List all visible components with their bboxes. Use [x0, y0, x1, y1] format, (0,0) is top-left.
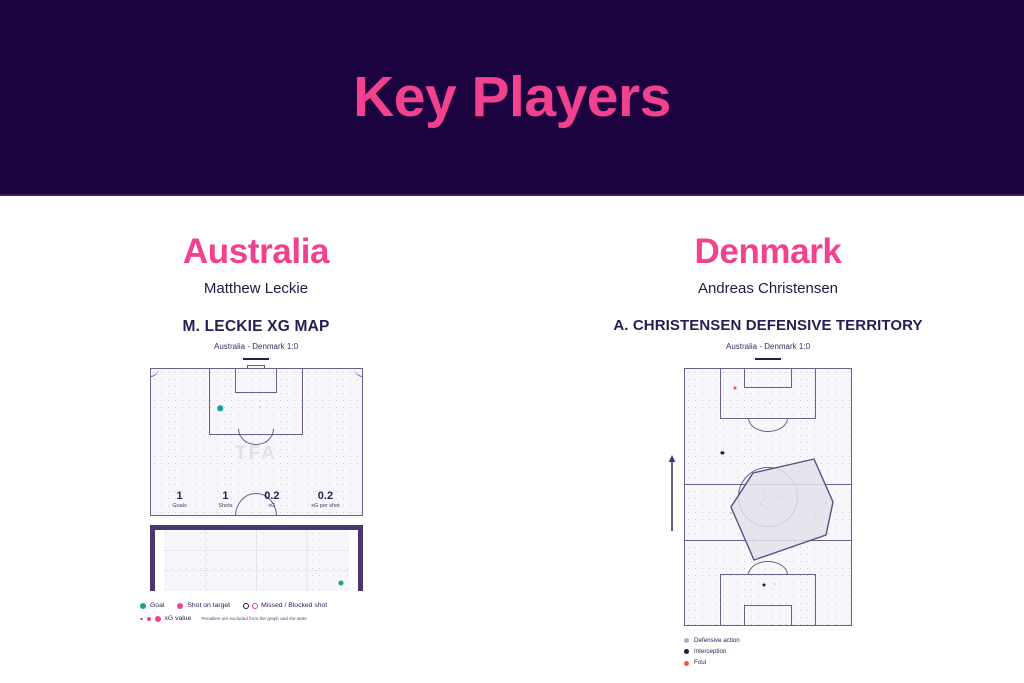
corner-arc-top-right [354, 368, 363, 377]
legend-label-shot-on-target: Shot on target [187, 603, 230, 610]
stat-xg-value: 0.2 [264, 491, 279, 502]
content-area: Australia Matthew Leckie M. LECKIE XG MA… [0, 196, 1024, 683]
legend-label-missed-blocked: Missed / Blocked shot [261, 603, 327, 610]
column-australia: Australia Matthew Leckie M. LECKIE XG MA… [0, 196, 512, 683]
goal-frame-gridline [205, 530, 206, 591]
legend-label-foul: Foul [694, 660, 706, 666]
action-marker-defensive-action [760, 503, 762, 505]
xg-map-subtitle: Australia - Denmark 1:0 [214, 343, 298, 351]
shot-on-target-dot-icon [177, 603, 183, 609]
stat-shots-value: 1 [218, 491, 232, 502]
interception-dot-icon [684, 649, 689, 654]
action-marker-defensive-action [755, 557, 757, 559]
defensive-territory-card: A. CHRISTENSEN DEFENSIVE TERRITORY Austr… [613, 318, 922, 666]
player-name-leckie: Matthew Leckie [204, 281, 308, 296]
stat-xg-per-shot-value: 0.2 [311, 491, 339, 502]
legend-xg-map: Goal Shot on target Missed / Blocked sho… [140, 603, 372, 623]
legend-item-interception: Interception [684, 649, 726, 655]
direction-arrow-icon [667, 455, 677, 533]
shot-marker-goal [217, 406, 223, 412]
stat-xg-per-shot: 0.2 xG per shot [311, 491, 339, 510]
goal-frame-chart [150, 525, 363, 591]
legend-row-xg-scale: xG value Penalties are excluded from the… [140, 616, 372, 623]
legend-label-goal: Goal [150, 603, 164, 610]
goal-dot-icon [140, 603, 146, 609]
action-marker-defensive-action [825, 502, 827, 504]
stat-goals: 1 Goals [172, 491, 186, 510]
stat-xg-per-shot-label: xG per shot [311, 504, 339, 510]
stat-goals-label: Goals [172, 504, 186, 510]
goal-frame-post-shadow-right [349, 530, 358, 591]
stat-shots-label: Shots [218, 504, 232, 510]
watermark-tfa: TFA [235, 443, 277, 465]
legend-row-markers: Goal Shot on target Missed / Blocked sho… [140, 603, 372, 610]
team-name-australia: Australia [183, 234, 329, 269]
defensive-territory-title: A. CHRISTENSEN DEFENSIVE TERRITORY [613, 318, 922, 335]
penalty-arc-bottom-marking [748, 561, 788, 575]
foul-dot-icon [684, 661, 689, 666]
corner-arc-top-left [150, 368, 159, 377]
xg-small-dot-icon [140, 618, 143, 621]
xg-medium-dot-icon [147, 617, 151, 621]
legend-item-missed-blocked: Missed / Blocked shot [243, 603, 327, 610]
xg-large-dot-icon [155, 616, 161, 622]
title-divider [243, 358, 269, 360]
legend-label-interception: Interception [694, 649, 726, 655]
legend-label-xg-value: xG value [165, 616, 192, 623]
action-marker-defensive-action [815, 517, 817, 519]
stat-goals-value: 1 [172, 491, 186, 502]
stat-shots: 1 Shots [218, 491, 232, 510]
action-marker-defensive-action [752, 540, 754, 542]
pitch-diagram-horizontal: TFA 1 Goals 1 Shots 0.2 xG [150, 368, 363, 516]
action-marker-defensive-action [774, 583, 776, 585]
watermark-tfa: TFA [749, 487, 787, 507]
legend-defensive-territory: Defensive action Interception Foul [684, 638, 852, 667]
stat-xg-label: xG [264, 504, 279, 510]
missed-shot-ring-icon [243, 603, 249, 609]
goal-frame-gridline [155, 570, 358, 571]
goal-frame-gridline [307, 530, 308, 591]
legend-item-goal: Goal [140, 603, 164, 610]
legend-item-shot-on-target: Shot on target [177, 603, 230, 610]
xg-value-scale: xG value [140, 616, 191, 623]
team-name-denmark: Denmark [695, 234, 842, 269]
six-yard-box-top-marking [744, 368, 792, 388]
xg-map-title: M. LECKIE XG MAP [182, 318, 329, 335]
goal-frame-shot-goal [339, 580, 344, 585]
title-divider [755, 358, 781, 360]
stats-row: 1 Goals 1 Shots 0.2 xG 0.2 xG per shot [151, 491, 362, 510]
action-marker-defensive-action [730, 512, 732, 514]
goal-frame-gridline [155, 550, 358, 551]
action-marker-interception [721, 451, 724, 454]
legend-label-defensive-action: Defensive action [694, 638, 740, 644]
goal-frame-post-shadow-left [155, 530, 164, 591]
goal-frame-gridline [256, 530, 257, 591]
blocked-shot-ring-icon [252, 603, 258, 609]
action-marker-interception [762, 583, 765, 586]
legend-item-defensive-action: Defensive action [684, 638, 740, 644]
player-name-christensen: Andreas Christensen [698, 281, 838, 296]
defensive-action-dot-icon [684, 638, 689, 643]
action-marker-foul [733, 386, 736, 389]
penalty-arc-top-marking [748, 418, 788, 432]
stat-xg: 0.2 xG [264, 491, 279, 510]
legend-footnote: Penalties are excluded from the graph an… [201, 617, 306, 622]
six-yard-box-bottom-marking [744, 605, 792, 625]
pitch-diagram-vertical: TFA [684, 368, 852, 626]
third-line-lower [685, 540, 851, 541]
page-title: Key Players [353, 69, 671, 126]
six-yard-box-marking [235, 368, 277, 393]
xg-map-card: M. LECKIE XG MAP Australia - Denmark 1:0… [140, 318, 372, 623]
shot-marker-missed [259, 406, 261, 408]
defensive-territory-subtitle: Australia - Denmark 1:0 [726, 343, 810, 351]
legend-item-foul: Foul [684, 660, 706, 666]
action-marker-defensive-action [769, 402, 771, 404]
column-denmark: Denmark Andreas Christensen A. CHRISTENS… [512, 196, 1024, 683]
header-banner: Key Players [0, 0, 1024, 196]
